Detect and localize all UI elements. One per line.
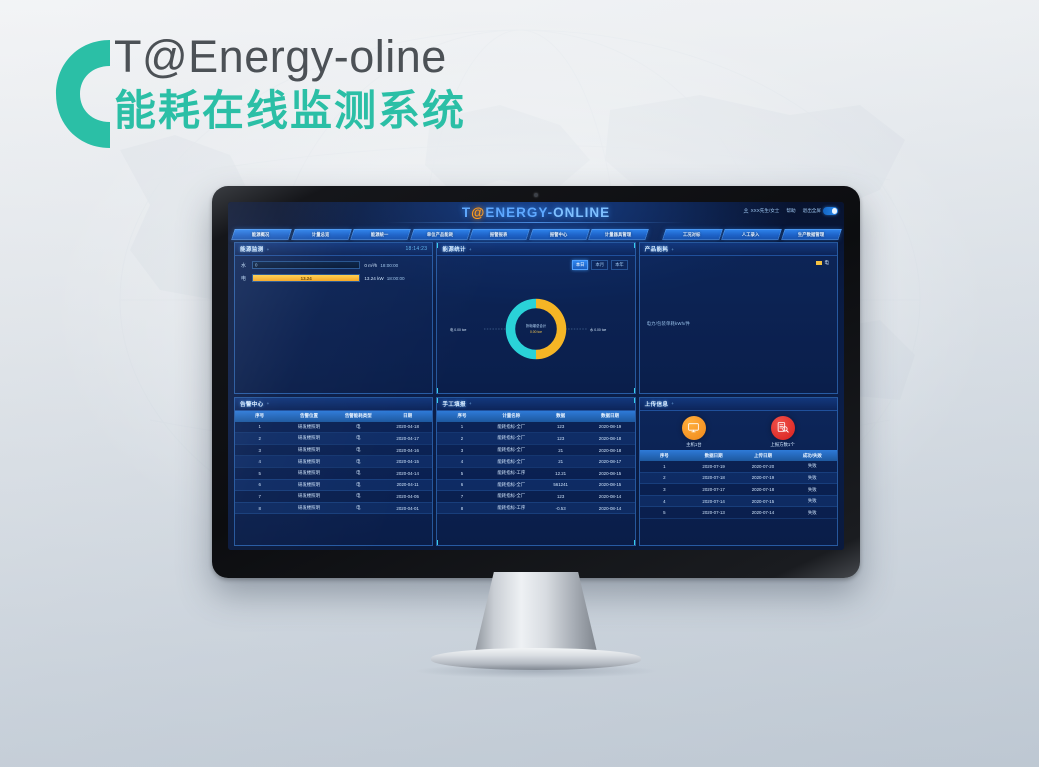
user-icon: [743, 208, 749, 214]
monitor-icon: [682, 416, 706, 440]
table-cell: 电: [334, 444, 383, 456]
column-header: 计量名称: [487, 411, 536, 422]
nav-tab-4[interactable]: 报警报表: [469, 229, 529, 240]
nav-tab-6[interactable]: 计量器具管理: [588, 229, 648, 240]
table-row[interactable]: 7能耗指标-全厂1232020-08-14: [437, 491, 634, 503]
panel-clock: 18:14:23: [405, 246, 427, 252]
nav-tab-2[interactable]: 能源统一: [350, 229, 410, 240]
table-cell: 2020-04-01: [383, 502, 432, 514]
panel-alarm-center: 告警中心 + 序号告警位置告警能耗类型日期1研发楼照明电2020-04-182研…: [234, 397, 433, 546]
help-label: 帮助: [786, 208, 795, 214]
panel-more-icon[interactable]: +: [469, 247, 472, 252]
table-cell: 研发楼照明: [284, 479, 333, 491]
table-cell: 研发楼照明: [284, 502, 333, 514]
panel-more-icon[interactable]: +: [671, 401, 674, 406]
dashboard-app: T@ENERGY-ONLINE XXX先生/女士 帮助: [228, 202, 844, 550]
nav-tab-8[interactable]: 人工录入: [721, 229, 781, 240]
panel-more-icon[interactable]: +: [671, 247, 674, 252]
table-cell: 2020-04-14: [383, 467, 432, 479]
table-cell: 能耗指标-全厂: [487, 491, 536, 503]
header-divider: [386, 222, 686, 223]
table-cell: 研发楼照明: [284, 422, 333, 433]
table-row[interactable]: 4研发楼照明电2020-04-15: [235, 456, 432, 468]
meter-meta: 0 m³/h18:00:00: [364, 263, 426, 268]
panel-title: 能源监测: [240, 245, 264, 253]
nav-tab-label: 生产数据管理: [798, 232, 824, 238]
table-cell: 失败: [788, 472, 837, 484]
table-cell: 电: [334, 433, 383, 445]
table-cell: 2020-08-15: [585, 479, 634, 491]
table-cell: 2020-04-18: [383, 422, 432, 433]
nav-tab-3[interactable]: 单位产品能耗: [410, 229, 470, 240]
table-row[interactable]: 2能耗指标-全厂1232020-08-18: [437, 433, 634, 445]
column-header: 成功/失败: [788, 450, 837, 461]
alarm-table: 序号告警位置告警能耗类型日期1研发楼照明电2020-04-182研发楼照明电20…: [235, 411, 432, 514]
panel-body: 水00 m³/h18:00:00电13.2413.24 kW18:00:00: [235, 256, 432, 393]
logo-main: ENERGY-: [485, 205, 553, 220]
table-cell: 2020-07-18: [738, 484, 787, 496]
fullscreen-toggle[interactable]: 退出全屏: [803, 207, 838, 215]
table-row[interactable]: 1能耗指标-全厂1232020-08-19: [437, 422, 634, 433]
meter-track: 0: [252, 261, 360, 269]
monitor: T@ENERGY-ONLINE XXX先生/女士 帮助: [212, 186, 860, 578]
table-cell: 2: [235, 433, 284, 445]
table-cell: 失败: [788, 461, 837, 472]
panel-energy-statistics: 能源统计 + 本日本月本年 电 0.00 tce 水 0.00 tce: [436, 242, 635, 394]
table-cell: -0.53: [536, 502, 585, 514]
table-cell: 7: [437, 491, 486, 503]
nav-tab-label: 工况对标: [683, 232, 701, 238]
table-cell: 2020-07-14: [738, 507, 787, 519]
nav-tab-5[interactable]: 报警中心: [529, 229, 589, 240]
table-row[interactable]: 6研发楼照明电2020-04-11: [235, 479, 432, 491]
nav-tab-7[interactable]: 工况对标: [662, 229, 722, 240]
panel-body: 序号告警位置告警能耗类型日期1研发楼照明电2020-04-182研发楼照明电20…: [235, 411, 432, 545]
table-row[interactable]: 4能耗指标-全厂212020-08-17: [437, 456, 634, 468]
table-cell: 电: [334, 422, 383, 433]
nav-tab-label: 能源概况: [252, 232, 270, 238]
table-cell: 8: [437, 502, 486, 514]
column-header: 告警能耗类型: [334, 411, 383, 422]
panel-body: 主机1台上报方数1个 序号数据日期上传日期成功/失败12020-07-19202…: [640, 411, 837, 545]
table-row[interactable]: 32020-07-172020-07-18失败: [640, 484, 837, 496]
panel-more-icon[interactable]: +: [267, 401, 270, 406]
monitor-screen: T@ENERGY-ONLINE XXX先生/女士 帮助: [228, 202, 844, 550]
nav-tab-label: 单位产品能耗: [427, 232, 453, 238]
table-cell: 2020-07-19: [689, 461, 738, 472]
table-header-row: 序号数据日期上传日期成功/失败: [640, 450, 837, 461]
table-header-row: 序号计量名称数据数据日期: [437, 411, 634, 422]
meter-value: 13.24: [301, 276, 312, 281]
column-header: 序号: [235, 411, 284, 422]
panel-header: 上传信息 +: [640, 398, 837, 411]
nav-tab-label: 报警中心: [550, 232, 568, 238]
table-cell: 失败: [788, 507, 837, 519]
table-cell: 2020-07-17: [689, 484, 738, 496]
table-cell: 2020-08-19: [585, 422, 634, 433]
upload-stat-caption: 主机1台: [682, 442, 706, 448]
range-button-group: 本日本月本年: [572, 260, 628, 270]
meter-label: 电: [241, 275, 248, 282]
column-header: 日期: [383, 411, 432, 422]
upload-stat-0[interactable]: 主机1台: [682, 416, 706, 449]
manual-entry-table: 序号计量名称数据数据日期1能耗指标-全厂1232020-08-192能耗指标-全…: [437, 411, 634, 514]
report-search-icon: [771, 416, 795, 440]
meter-reading: 13.24 kW: [364, 276, 383, 281]
meter-label: 水: [241, 262, 248, 269]
table-cell: 电: [334, 502, 383, 514]
monitor-bezel: T@ENERGY-ONLINE XXX先生/女士 帮助: [212, 186, 860, 578]
table-cell: 5: [235, 467, 284, 479]
upload-table: 序号数据日期上传日期成功/失败12020-07-192020-07-20失败22…: [640, 450, 837, 519]
table-cell: 3: [437, 444, 486, 456]
table-row[interactable]: 8能耗指标-工序-0.532020-08-14: [437, 502, 634, 514]
table-cell: 能耗指标-全厂: [487, 456, 536, 468]
legend-swatch-electricity: [816, 261, 822, 265]
table-cell: 2020-04-16: [383, 444, 432, 456]
panel-energy-monitor: 能源监测 + 18:14:23 水00 m³/h18:00:00电13.2413…: [234, 242, 433, 394]
table-row[interactable]: 6能耗指标-全厂5612412020-08-15: [437, 479, 634, 491]
table-cell: 1: [235, 422, 284, 433]
nav-tab-0[interactable]: 能源概况: [231, 229, 291, 240]
table-cell: 能耗指标-全厂: [487, 444, 536, 456]
table-header-row: 序号告警位置告警能耗类型日期: [235, 411, 432, 422]
nav-tab-label: 人工录入: [742, 232, 760, 238]
table-row[interactable]: 5能耗指标-工序12.212020-08-15: [437, 467, 634, 479]
table-cell: 2020-04-05: [383, 491, 432, 503]
table-cell: 6: [437, 479, 486, 491]
table-cell: 2020-07-19: [738, 472, 787, 484]
column-header: 序号: [640, 450, 689, 461]
table-cell: 研发楼照明: [284, 433, 333, 445]
nav-tab-1[interactable]: 计量总览: [291, 229, 351, 240]
nav-tab-label: 计量器具管理: [605, 232, 631, 238]
table-row[interactable]: 52020-07-132020-07-14失败: [640, 507, 837, 519]
table-cell: 1: [640, 461, 689, 472]
donut-center-line2: 0.00 tce: [530, 330, 542, 334]
table-cell: 研发楼照明: [284, 444, 333, 456]
table-cell: 3: [640, 484, 689, 496]
meter-track: 13.24: [252, 274, 360, 282]
column-header: 数据: [536, 411, 585, 422]
panel-header: 手工填报 +: [437, 398, 634, 411]
account-label: XXX先生/女士: [751, 208, 780, 214]
nav-tab-label: 报警报表: [490, 232, 508, 238]
table-cell: 失败: [788, 495, 837, 507]
table-cell: 7: [235, 491, 284, 503]
app-logo: T@ENERGY-ONLINE: [462, 205, 610, 220]
table-cell: 研发楼照明: [284, 456, 333, 468]
range-button-0[interactable]: 本日: [572, 260, 589, 270]
panel-title: 产品能耗: [645, 245, 669, 253]
panel-more-icon[interactable]: +: [267, 247, 270, 252]
table-cell: 1: [437, 422, 486, 433]
panel-title: 手工填报: [442, 400, 466, 408]
logo-suffix: ONLINE: [553, 205, 610, 220]
table-cell: 12.21: [536, 467, 585, 479]
table-cell: 5: [437, 467, 486, 479]
logo-at-icon: @: [471, 205, 485, 220]
column-header: 数据日期: [689, 450, 738, 461]
panel-title: 告警中心: [240, 400, 264, 408]
panel-header: 产品能耗 +: [640, 243, 837, 256]
table-cell: 6: [235, 479, 284, 491]
table-cell: 5: [640, 507, 689, 519]
meter-list: 水00 m³/h18:00:00电13.2413.24 kW18:00:00: [241, 261, 426, 282]
donut-chart: 电 0.00 tce 水 0.00 tce 折标煤总合计 0.00 tce: [437, 270, 634, 389]
table-cell: 能耗指标-全厂: [487, 433, 536, 445]
table-cell: 2020-08-18: [585, 444, 634, 456]
table-cell: 2: [437, 433, 486, 445]
main-navigation: 能源概况计量总览能源统一单位产品能耗报警报表报警中心计量器具管理工况对标人工录入…: [228, 228, 844, 240]
table-cell: 2020-04-11: [383, 479, 432, 491]
table-row[interactable]: 12020-07-192020-07-20失败: [640, 461, 837, 472]
column-header: 上传日期: [738, 450, 787, 461]
table-row[interactable]: 1研发楼照明电2020-04-18: [235, 422, 432, 433]
meter-time: 18:00:00: [380, 263, 398, 268]
table-cell: 2020-07-15: [738, 495, 787, 507]
table-cell: 561241: [536, 479, 585, 491]
chart-legend: 电: [816, 260, 829, 266]
table-row[interactable]: 8研发楼照明电2020-04-01: [235, 502, 432, 514]
brand-block: T@Energy-oline 能耗在线监测系统: [52, 26, 466, 138]
table-cell: 电: [334, 491, 383, 503]
table-cell: 电: [334, 456, 383, 468]
legend-label: 电: [824, 260, 829, 266]
meter-fill: 13.24: [253, 275, 359, 281]
table-cell: 2020-08-14: [585, 502, 634, 514]
table-cell: 电: [334, 467, 383, 479]
fullscreen-label: 退出全屏: [803, 208, 821, 214]
logo-prefix: T: [462, 205, 471, 220]
upload-stat-caption: 上报方数1个: [770, 442, 794, 448]
range-button-1[interactable]: 本月: [591, 260, 608, 270]
panel-header: 告警中心 +: [235, 398, 432, 411]
donut-left-label: 电 0.00 tce: [450, 327, 467, 332]
account-menu[interactable]: XXX先生/女士: [743, 208, 780, 214]
table-row[interactable]: 5研发楼照明电2020-04-14: [235, 467, 432, 479]
panel-upload-info: 上传信息 + 主机1台上报方数1个 序号数据日期上传日期成功/失败12020-0…: [639, 397, 838, 546]
panel-header: 能源监测 + 18:14:23: [235, 243, 432, 256]
column-header: 告警位置: [284, 411, 333, 422]
table-cell: 4: [640, 495, 689, 507]
table-cell: 能耗指标-全厂: [487, 479, 536, 491]
table-cell: 失败: [788, 484, 837, 496]
brand-chinese-title: 能耗在线监测系统: [114, 84, 466, 138]
nav-tab-9[interactable]: 生产数据管理: [781, 229, 841, 240]
upload-stat-group: 主机1台上报方数1个: [640, 411, 837, 451]
upload-stat-1[interactable]: 上报方数1个: [770, 416, 794, 449]
donut-right-label: 水 0.00 tce: [590, 327, 607, 332]
table-cell: 2020-07-13: [689, 507, 738, 519]
column-header: 数据日期: [585, 411, 634, 422]
y-axis-label: 电力/包装单耗kWh/件: [647, 321, 690, 327]
table-cell: 3: [235, 444, 284, 456]
table-cell: 2020-04-15: [383, 456, 432, 468]
meter-reading: 0 m³/h: [364, 263, 377, 268]
panel-header: 能源统计 +: [437, 243, 634, 256]
table-cell: 4: [437, 456, 486, 468]
table-cell: 2020-07-20: [738, 461, 787, 472]
monitor-shadow: [416, 664, 656, 678]
webcam-icon: [534, 193, 538, 197]
table-cell: 能耗指标-全厂: [487, 422, 536, 433]
table-row[interactable]: 7研发楼照明电2020-04-05: [235, 491, 432, 503]
table-row[interactable]: 2研发楼照明电2020-04-17: [235, 433, 432, 445]
table-cell: 2020-07-18: [689, 472, 738, 484]
table-cell: 21: [536, 456, 585, 468]
table-cell: 2: [640, 472, 689, 484]
panel-more-icon[interactable]: +: [469, 401, 472, 406]
nav-tab-label: 能源统一: [371, 232, 389, 238]
column-header: 序号: [437, 411, 486, 422]
donut-center-line1: 折标煤总合计: [526, 324, 547, 329]
meter-meta: 13.24 kW18:00:00: [364, 276, 426, 281]
table-cell: 8: [235, 502, 284, 514]
help-link[interactable]: 帮助: [786, 208, 795, 214]
panel-body: 电 电力/包装单耗kWh/件: [640, 256, 837, 393]
dashboard-grid: 能源监测 + 18:14:23 水00 m³/h18:00:00电13.2413…: [234, 242, 838, 546]
range-button-2[interactable]: 本年: [611, 260, 628, 270]
table-cell: 21: [536, 444, 585, 456]
table-cell: 研发楼照明: [284, 491, 333, 503]
table-cell: 研发楼照明: [284, 467, 333, 479]
table-cell: 2020-08-14: [585, 491, 634, 503]
table-cell: 能耗指标-工序: [487, 467, 536, 479]
table-cell: 2020-08-15: [585, 467, 634, 479]
logo-c-mark-icon: [52, 34, 114, 154]
panel-body: 序号计量名称数据数据日期1能耗指标-全厂1232020-08-192能耗指标-全…: [437, 411, 634, 545]
table-cell: 2020-07-14: [689, 495, 738, 507]
table-cell: 123: [536, 433, 585, 445]
panel-title: 上传信息: [645, 400, 669, 408]
panel-product-energy: 产品能耗 + 电 电力/包装单耗kWh/件: [639, 242, 838, 394]
table-row[interactable]: 3研发楼照明电2020-04-16: [235, 444, 432, 456]
brand-english-title: T@Energy-oline: [114, 26, 466, 88]
app-header: T@ENERGY-ONLINE XXX先生/女士 帮助: [228, 202, 844, 228]
meter-row: 电13.2413.24 kW18:00:00: [241, 274, 426, 282]
meter-row: 水00 m³/h18:00:00: [241, 261, 426, 269]
meter-value: 0: [255, 263, 257, 268]
table-cell: 电: [334, 479, 383, 491]
panel-body: 本日本月本年 电 0.00 tce 水 0.00 tce 折标煤总合计 0.0: [437, 256, 634, 393]
user-area: XXX先生/女士 帮助 退出全屏: [743, 207, 838, 215]
table-row[interactable]: 22020-07-182020-07-19失败: [640, 472, 837, 484]
table-cell: 4: [235, 456, 284, 468]
table-cell: 2020-08-18: [585, 433, 634, 445]
fullscreen-switch[interactable]: [823, 207, 838, 215]
table-cell: 123: [536, 491, 585, 503]
monitor-stand-neck: [474, 572, 598, 656]
nav-tab-label: 计量总览: [312, 232, 330, 238]
panel-manual-entry: 手工填报 + 序号计量名称数据数据日期1能耗指标-全厂1232020-08-19…: [436, 397, 635, 546]
table-row[interactable]: 3能耗指标-全厂212020-08-18: [437, 444, 634, 456]
meter-time: 18:00:00: [387, 276, 405, 281]
table-cell: 能耗指标-工序: [487, 502, 536, 514]
table-cell: 123: [536, 422, 585, 433]
table-row[interactable]: 42020-07-142020-07-15失败: [640, 495, 837, 507]
panel-title: 能源统计: [442, 245, 466, 253]
table-cell: 2020-08-17: [585, 456, 634, 468]
table-cell: 2020-04-17: [383, 433, 432, 445]
